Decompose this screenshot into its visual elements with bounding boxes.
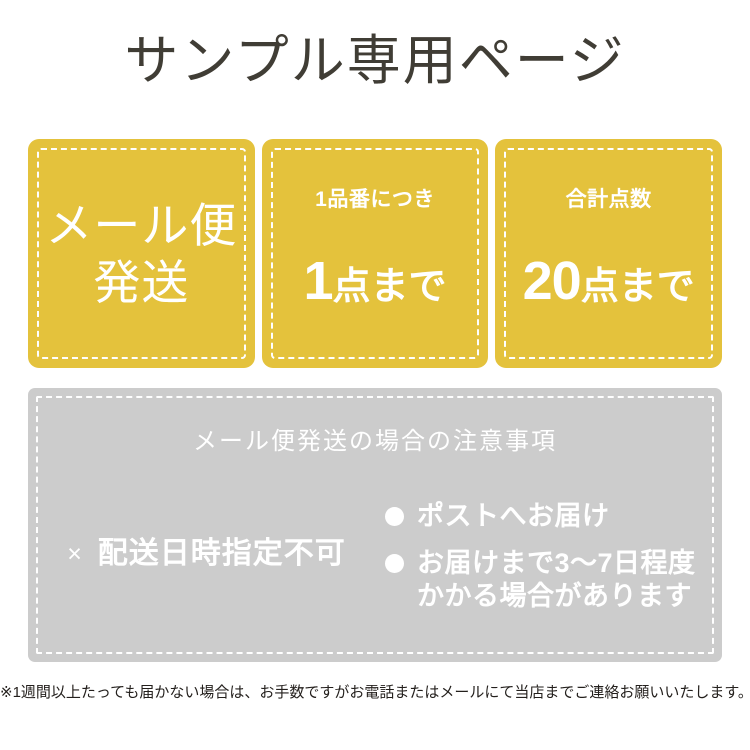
- bullet-dot-icon: [385, 554, 404, 573]
- list-item: ポストへお届け: [385, 500, 722, 533]
- notice-restriction-column: × 配送日時指定不可: [28, 498, 385, 628]
- notice-bullet-column: ポストへお届け お届けまで3〜7日程度 かかる場合があります: [385, 498, 722, 613]
- total-limit-unit: 点まで: [581, 266, 695, 308]
- notice-panel: メール便発送の場合の注意事項 × 配送日時指定不可 ポストへお届け お届けまで3…: [28, 388, 722, 662]
- notice-heading: メール便発送の場合の注意事項: [28, 426, 722, 458]
- bullet-label: お届けまで3〜7日程度 かかる場合があります: [417, 547, 696, 613]
- feature-box-row: メール便 発送 1品番につき 1点まで 合計点数 20点まで: [28, 139, 722, 368]
- total-limit-value: 20点まで: [495, 255, 722, 321]
- per-item-limit-unit: 点まで: [333, 266, 447, 308]
- per-item-limit-number: 1: [303, 251, 332, 311]
- bullet-dot-icon: [385, 507, 404, 526]
- promo-banner: サンプル専用ページ メール便 発送 1品番につき 1点まで 合計点数: [0, 0, 750, 750]
- list-item: お届けまで3〜7日程度 かかる場合があります: [385, 547, 722, 613]
- feature-box-content: 1品番につき 1点まで: [262, 187, 489, 321]
- feature-box-total-limit: 合計点数 20点まで: [495, 139, 722, 368]
- page-title: サンプル専用ページ: [0, 28, 750, 94]
- shipping-method-line-2: 発送: [28, 254, 255, 311]
- total-limit-number: 20: [523, 251, 581, 311]
- bullet-label: ポストへお届け: [417, 500, 610, 533]
- cross-icon: ×: [67, 542, 82, 567]
- restriction-label: 配送日時指定不可: [98, 536, 346, 572]
- feature-box-per-item-limit: 1品番につき 1点まで: [262, 139, 489, 368]
- shipping-method-line-1: メール便: [28, 197, 255, 254]
- feature-box-content: 合計点数 20点まで: [495, 187, 722, 321]
- total-limit-caption: 合計点数: [495, 187, 722, 213]
- feature-box-content: メール便 発送: [28, 197, 255, 311]
- per-item-limit-caption: 1品番につき: [262, 187, 489, 213]
- notice-body: × 配送日時指定不可 ポストへお届け お届けまで3〜7日程度 かかる場合がありま…: [28, 498, 722, 628]
- footnote: ※1週間以上たっても届かない場合は、お手数ですがお電話またはメールにて当店までご…: [0, 682, 750, 704]
- feature-box-shipping-method: メール便 発送: [28, 139, 255, 368]
- restriction-item: × 配送日時指定不可: [67, 536, 346, 572]
- per-item-limit-value: 1点まで: [262, 255, 489, 321]
